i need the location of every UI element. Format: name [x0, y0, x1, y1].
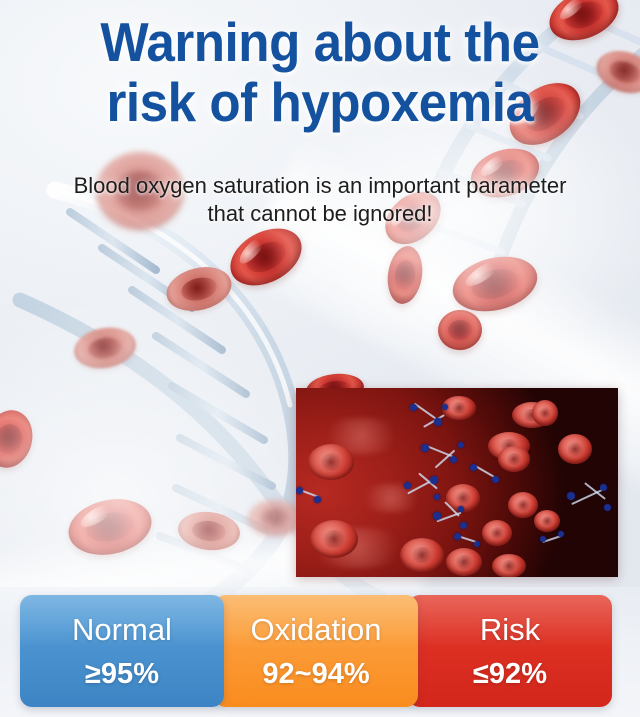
title-line-2: risk of hypoxemia: [22, 74, 617, 130]
inset-red-blood-cell: [310, 520, 358, 558]
status-value-normal: ≥95%: [85, 660, 159, 689]
status-panels: Normal ≥95% Oxidation 92~94% Risk ≤92%: [20, 595, 612, 707]
status-panel-normal[interactable]: Normal ≥95%: [20, 595, 224, 707]
infographic-poster: Warning about the risk of hypoxemia Bloo…: [0, 0, 640, 717]
inset-red-blood-cell: [400, 538, 444, 572]
inset-red-blood-cell: [508, 492, 538, 518]
page-title: Warning about the risk of hypoxemia: [0, 14, 640, 130]
status-value-risk: ≤92%: [473, 660, 547, 689]
title-line-1: Warning about the: [22, 14, 617, 70]
inset-red-blood-cell: [534, 510, 560, 532]
status-value-oxidation: 92~94%: [262, 660, 369, 689]
page-subtitle: Blood oxygen saturation is an important …: [0, 172, 640, 228]
subtitle-line-1: Blood oxygen saturation is an important …: [0, 172, 640, 200]
status-label-risk: Risk: [480, 614, 540, 645]
status-panel-risk[interactable]: Risk ≤92%: [408, 595, 612, 707]
oxygen-level-status-bar: Normal ≥95% Oxidation 92~94% Risk ≤92%: [0, 587, 640, 717]
inset-red-blood-cell: [558, 434, 592, 464]
status-panel-oxidation[interactable]: Oxidation 92~94%: [214, 595, 418, 707]
inset-red-blood-cell: [498, 446, 530, 472]
inset-photo-blood-plasma: [296, 388, 618, 577]
inset-red-blood-cell: [446, 548, 482, 576]
inset-red-blood-cell: [532, 400, 558, 426]
inset-red-blood-cell: [482, 520, 512, 546]
status-label-oxidation: Oxidation: [251, 614, 382, 645]
inset-red-blood-cell: [308, 444, 354, 480]
subtitle-line-2: that cannot be ignored!: [0, 200, 640, 228]
status-label-normal: Normal: [72, 614, 172, 645]
inset-red-blood-cell: [492, 554, 526, 577]
